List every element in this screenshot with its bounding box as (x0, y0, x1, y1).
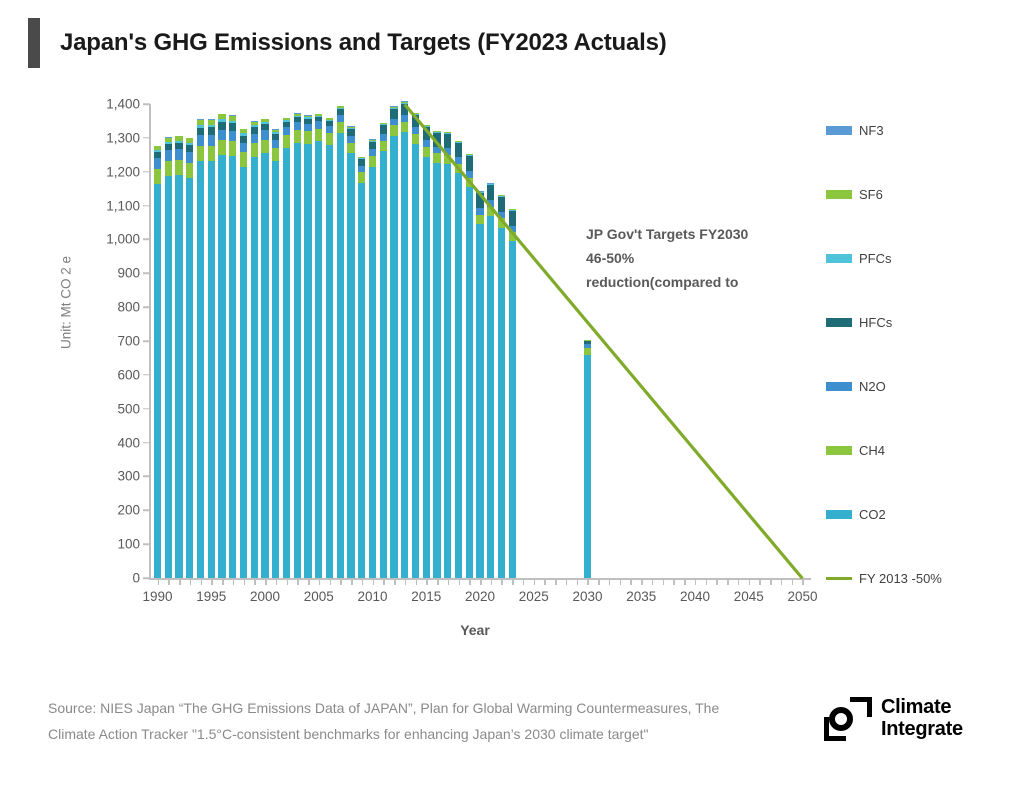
bar-segment-ch4 (261, 140, 268, 154)
x-axis-tick-mark (684, 578, 686, 585)
x-axis-tick-mark (577, 578, 579, 585)
x-axis-tick-mark (168, 578, 170, 585)
x-axis-tick-mark (394, 578, 396, 585)
x-axis-tick-mark (330, 578, 332, 585)
bar-segment-co2 (347, 153, 354, 578)
y-axis-tick-mark (143, 543, 150, 545)
logo-line-2: Integrate (881, 719, 963, 741)
annotation-line-2: 46-50% (586, 246, 816, 270)
legend-swatch-icon (826, 126, 852, 135)
bar-segment-ch4 (283, 135, 290, 148)
x-axis-tick-mark (781, 578, 783, 585)
legend-item-sf6[interactable]: SF6 (826, 186, 883, 202)
legend-swatch-icon (826, 446, 852, 455)
bar-segment-hfcs (466, 156, 473, 171)
legend-item-co2[interactable]: CO2 (826, 506, 886, 522)
y-axis-tick-mark (143, 205, 150, 207)
bar-segment-co2 (197, 161, 204, 578)
bar-segment-co2 (208, 161, 215, 578)
bar-segment-n2o (261, 130, 268, 139)
bar-segment-hfcs (197, 128, 204, 135)
y-axis-tick-label: 900 (117, 266, 140, 281)
bar-segment-ch4 (509, 232, 516, 241)
x-axis-tick-label: 2005 (304, 589, 334, 604)
bar-segment-co2 (304, 144, 311, 578)
bar-segment-co2 (229, 156, 236, 578)
bar-segment-n2o (315, 121, 322, 129)
x-axis-tick-mark (222, 578, 224, 585)
x-axis-title: Year (0, 622, 950, 638)
x-axis-tick-label: 2040 (680, 589, 710, 604)
bar-segment-co2 (358, 183, 365, 578)
legend-label: SF6 (859, 187, 883, 202)
bar-1993 (186, 138, 193, 578)
x-axis-tick-mark (179, 578, 181, 585)
y-axis-tick-label: 300 (117, 469, 140, 484)
x-axis-tick-mark (211, 578, 213, 585)
bar-segment-ch4 (455, 164, 462, 173)
x-axis-tick-label: 2050 (787, 589, 817, 604)
x-axis-tick-mark (523, 578, 525, 585)
bar-segment-co2 (455, 173, 462, 578)
bar-segment-co2 (476, 224, 483, 578)
x-axis-tick-mark (695, 578, 697, 585)
bar-2014 (412, 113, 419, 578)
logo-mark-icon (824, 697, 872, 741)
legend-label: NF3 (859, 123, 884, 138)
bar-segment-co2 (584, 355, 591, 578)
bar-2000 (261, 119, 268, 578)
legend-item-nf3[interactable]: NF3 (826, 122, 884, 138)
target-annotation: JP Gov't Targets FY2030 46-50% reduction… (586, 222, 816, 294)
bar-segment-n2o (380, 134, 387, 141)
bar-segment-ch4 (401, 122, 408, 132)
bar-segment-co2 (186, 178, 193, 578)
bar-segment-n2o (369, 149, 376, 156)
bar-segment-co2 (444, 164, 451, 578)
legend-label: CH4 (859, 443, 885, 458)
bar-segment-hfcs (240, 136, 247, 143)
bar-segment-co2 (390, 136, 397, 579)
y-axis-tick-mark (143, 137, 150, 139)
bar-2021 (487, 183, 494, 578)
bar-segment-n2o (390, 119, 397, 126)
x-axis-tick-mark (491, 578, 493, 585)
bar-1992 (175, 136, 182, 579)
x-axis-tick-mark (598, 578, 600, 585)
y-axis-title: Unit: Mt CO 2 e (59, 223, 74, 383)
x-axis-tick-mark (706, 578, 708, 585)
bar-segment-co2 (272, 161, 279, 578)
bar-segment-co2 (165, 176, 172, 578)
x-axis-tick-label: 2020 (465, 589, 495, 604)
x-axis-tick-mark (566, 578, 568, 585)
x-axis-tick-mark (716, 578, 718, 585)
bar-segment-co2 (283, 148, 290, 578)
bar-segment-n2o (218, 130, 225, 140)
bar-2016 (433, 131, 440, 578)
legend-item-n2o[interactable]: N2O (826, 378, 886, 394)
y-axis-tick-label: 700 (117, 334, 140, 349)
bar-segment-hfcs (455, 143, 462, 158)
bar-segment-n2o (251, 134, 258, 143)
bar-segment-ch4 (423, 147, 430, 157)
x-axis-tick-mark (480, 578, 482, 585)
bar-1994 (197, 119, 204, 578)
bar-segment-hfcs (208, 127, 215, 134)
legend-label: PFCs (859, 251, 892, 266)
bar-segment-n2o (175, 149, 182, 160)
bar-2017 (444, 132, 451, 578)
y-axis-tick-label: 500 (117, 401, 140, 416)
bar-1999 (251, 121, 258, 578)
bar-2009 (358, 156, 365, 578)
x-axis-tick-mark (448, 578, 450, 585)
x-axis-tick-mark (308, 578, 310, 585)
bar-segment-ch4 (390, 125, 397, 135)
x-axis-tick-mark (373, 578, 375, 585)
bar-2020 (476, 191, 483, 578)
bar-segment-co2 (509, 241, 516, 578)
bar-segment-ch4 (498, 218, 505, 227)
y-axis-tick-labels: 01002003004005006007008009001,0001,1001,… (60, 0, 140, 797)
legend-item-pfcs[interactable]: PFCs (826, 250, 892, 266)
legend-label: N2O (859, 379, 886, 394)
legend-swatch-icon (826, 510, 852, 519)
bar-2001 (272, 129, 279, 578)
bar-segment-hfcs (358, 159, 365, 166)
x-axis-tick-mark (501, 578, 503, 585)
y-axis-tick-mark (143, 273, 150, 275)
y-axis-tick-mark (143, 306, 150, 308)
bar-segment-n2o (412, 127, 419, 134)
y-axis-tick-label: 200 (117, 503, 140, 518)
y-axis-tick-mark (143, 408, 150, 410)
bar-segment-n2o (444, 148, 451, 155)
x-axis-tick-mark (416, 578, 418, 585)
bar-1991 (165, 137, 172, 578)
x-axis-tick-mark (340, 578, 342, 585)
bar-2030 (584, 340, 591, 578)
legend-item-ch4[interactable]: CH4 (826, 442, 885, 458)
logo-text: Climate Integrate (881, 697, 963, 740)
x-axis-tick-mark (459, 578, 461, 585)
bar-segment-co2 (315, 141, 322, 578)
y-axis-tick-label: 100 (117, 537, 140, 552)
bar-segment-co2 (498, 228, 505, 578)
bar-segment-ch4 (272, 148, 279, 161)
bracket-circle-icon (824, 697, 872, 741)
x-axis-tick-mark (437, 578, 439, 585)
bar-segment-hfcs (390, 109, 397, 119)
bar-2002 (283, 118, 290, 578)
legend-swatch-icon (826, 318, 852, 327)
bar-segment-n2o (423, 140, 430, 147)
bar-segment-co2 (380, 151, 387, 578)
legend-label: CO2 (859, 507, 886, 522)
bar-segment-ch4 (433, 153, 440, 162)
bar-segment-hfcs (498, 197, 505, 212)
bar-segment-n2o (186, 152, 193, 163)
bar-segment-co2 (326, 145, 333, 578)
x-axis-tick-mark (426, 578, 428, 585)
bar-segment-ch4 (294, 130, 301, 143)
x-axis-tick-mark (534, 578, 536, 585)
bar-2005 (315, 113, 322, 578)
bar-segment-ch4 (251, 143, 258, 157)
bar-segment-n2o (154, 158, 161, 169)
bar-segment-n2o (326, 126, 333, 133)
x-axis-tick-mark (792, 578, 794, 585)
bar-segment-hfcs (433, 133, 440, 147)
x-axis-tick-mark (652, 578, 654, 585)
y-axis-tick-mark (143, 374, 150, 376)
x-axis-tick-label: 2000 (250, 589, 280, 604)
y-axis-tick-mark (143, 171, 150, 173)
legend-swatch-icon (826, 190, 852, 199)
bar-segment-hfcs (476, 193, 483, 208)
x-axis-tick-mark (630, 578, 632, 585)
x-axis-tick-label: 2025 (519, 589, 549, 604)
x-axis-tick-mark (673, 578, 675, 585)
bar-segment-co2 (401, 132, 408, 578)
logo-line-1: Climate (881, 697, 963, 719)
bar-segment-ch4 (229, 141, 236, 156)
x-axis-tick-mark (265, 578, 267, 585)
x-axis-tick-mark (738, 578, 740, 585)
bar-segment-ch4 (326, 133, 333, 145)
bar-2015 (423, 125, 430, 578)
x-axis-tick-label: 1995 (196, 589, 226, 604)
bar-1998 (240, 129, 247, 578)
x-axis-tick-label: 2045 (734, 589, 764, 604)
bar-segment-n2o (466, 171, 473, 178)
bar-segment-co2 (240, 167, 247, 578)
bar-segment-hfcs (229, 123, 236, 130)
bar-segment-hfcs (423, 127, 430, 140)
bar-segment-n2o (283, 127, 290, 135)
bar-segment-n2o (304, 124, 311, 132)
x-axis-tick-mark (587, 578, 589, 585)
bar-segment-hfcs (380, 125, 387, 134)
x-axis-tick-mark (383, 578, 385, 585)
bar-2018 (455, 141, 462, 578)
bar-segment-n2o (358, 166, 365, 173)
x-axis-tick-mark (190, 578, 192, 585)
x-axis-tick-label: 1990 (142, 589, 172, 604)
y-axis-tick-label: 1,300 (106, 130, 140, 145)
bar-segment-ch4 (208, 146, 215, 161)
bar-1996 (218, 113, 225, 578)
bar-segment-ch4 (358, 172, 365, 182)
bar-2010 (369, 139, 376, 578)
chart-area: 01002003004005006007008009001,0001,1001,… (0, 0, 1024, 797)
x-axis-tick-label: 2030 (572, 589, 602, 604)
x-axis-tick-label: 2035 (626, 589, 656, 604)
source-line-2: Climate Action Tracker "1.5°C-consistent… (48, 722, 808, 748)
x-axis-tick-mark (759, 578, 761, 585)
annotation-line-3: reduction(compared to (586, 270, 816, 294)
x-axis-tick-mark (244, 578, 246, 585)
y-axis-tick-mark (143, 476, 150, 478)
x-axis-tick-mark (287, 578, 289, 585)
bar-segment-hfcs (444, 134, 451, 148)
bar-segment-co2 (261, 153, 268, 578)
x-axis-tick-mark (276, 578, 278, 585)
y-axis-tick-label: 1,400 (106, 97, 140, 112)
x-axis-tick-mark (544, 578, 546, 585)
bar-segment-ch4 (347, 143, 354, 154)
legend-item-fy-2013-50[interactable]: FY 2013 -50% (826, 570, 942, 586)
x-axis-tick-mark (362, 578, 364, 585)
bar-segment-co2 (423, 157, 430, 578)
x-axis-tick-mark (233, 578, 235, 585)
y-axis-tick-mark (143, 577, 150, 579)
bar-segment-n2o (229, 131, 236, 141)
bar-segment-n2o (165, 150, 172, 161)
bar-segment-ch4 (197, 146, 204, 161)
x-axis-tick-mark (663, 578, 665, 585)
bar-segment-ch4 (154, 169, 161, 185)
bar-2019 (466, 154, 473, 578)
x-axis-tick-mark (620, 578, 622, 585)
x-axis-tick-mark (297, 578, 299, 585)
bar-segment-ch4 (240, 152, 247, 166)
bar-segment-hfcs (369, 142, 376, 150)
x-axis-tick-mark (770, 578, 772, 585)
bar-2007 (337, 106, 344, 578)
legend-label: FY 2013 -50% (859, 571, 942, 586)
bar-segment-hfcs (412, 115, 419, 127)
legend-swatch-icon (826, 254, 852, 263)
bar-segment-n2o (240, 143, 247, 153)
x-axis-tick-mark (641, 578, 643, 585)
bar-segment-co2 (154, 184, 161, 578)
bar-segment-co2 (433, 163, 440, 578)
bar-segment-ch4 (466, 178, 473, 187)
annotation-line-1: JP Gov't Targets FY2030 (586, 222, 816, 246)
bar-2012 (390, 106, 397, 578)
bar-segment-n2o (433, 147, 440, 154)
bar-segment-n2o (272, 140, 279, 148)
bar-2004 (304, 115, 311, 578)
bar-segment-ch4 (175, 160, 182, 175)
x-axis-tick-mark (405, 578, 407, 585)
bar-segment-ch4 (476, 215, 483, 224)
bar-1995 (208, 119, 215, 578)
bar-segment-co2 (175, 175, 182, 578)
climate-integrate-logo: Climate Integrate (824, 697, 963, 741)
x-axis-tick-mark (201, 578, 203, 585)
bar-segment-co2 (369, 167, 376, 578)
bar-segment-n2o (401, 115, 408, 122)
y-axis-tick-label: 1,000 (106, 232, 140, 247)
bar-segment-n2o (197, 135, 204, 146)
bar-segment-ch4 (412, 134, 419, 144)
bar-segment-ch4 (315, 129, 322, 141)
y-axis-tick-mark (143, 442, 150, 444)
x-axis-tick-mark (609, 578, 611, 585)
bar-segment-hfcs (401, 104, 408, 115)
y-axis-tick-mark (143, 510, 150, 512)
bar-segment-ch4 (337, 122, 344, 133)
bar-segment-n2o (294, 122, 301, 130)
bar-segment-ch4 (186, 163, 193, 178)
y-axis-tick-mark (143, 103, 150, 105)
y-axis-tick-label: 1,100 (106, 198, 140, 213)
source-note: Source: NIES Japan “The GHG Emissions Da… (48, 696, 808, 748)
bar-segment-hfcs (487, 185, 494, 200)
legend-swatch-icon (826, 577, 852, 580)
bar-segment-co2 (412, 144, 419, 578)
bar-2023 (509, 209, 516, 578)
bar-segment-co2 (294, 143, 301, 578)
x-axis-tick-mark (727, 578, 729, 585)
bar-1997 (229, 115, 236, 578)
bar-segment-ch4 (304, 131, 311, 143)
x-axis-tick-mark (319, 578, 321, 585)
y-axis-tick-label: 400 (117, 435, 140, 450)
bar-segment-n2o (337, 115, 344, 122)
bar-segment-co2 (251, 157, 258, 578)
bar-2008 (347, 126, 354, 578)
bar-2022 (498, 195, 505, 578)
bar-segment-n2o (455, 157, 462, 164)
y-axis-tick-label: 0 (132, 571, 140, 586)
bar-segment-hfcs (509, 211, 516, 226)
bar-segment-co2 (466, 187, 473, 578)
legend-item-hfcs[interactable]: HFCs (826, 314, 892, 330)
y-axis-tick-label: 800 (117, 300, 140, 315)
x-axis-tick-mark (555, 578, 557, 585)
legend-label: HFCs (859, 315, 892, 330)
x-axis-tick-label: 2015 (411, 589, 441, 604)
bar-segment-ch4 (369, 156, 376, 166)
bar-2006 (326, 118, 333, 578)
x-axis-tick-mark (158, 578, 160, 585)
bar-segment-ch4 (444, 155, 451, 164)
bar-segment-n2o (347, 136, 354, 143)
bar-segment-ch4 (165, 161, 172, 177)
plot-bars (150, 104, 810, 578)
x-axis-tick-mark (749, 578, 751, 585)
y-axis-tick-mark (143, 239, 150, 241)
bar-1990 (154, 146, 161, 578)
y-axis-tick-label: 600 (117, 367, 140, 382)
x-axis-tick-mark (469, 578, 471, 585)
y-axis-tick-label: 1,200 (106, 164, 140, 179)
x-axis-tick-label: 2010 (357, 589, 387, 604)
bar-segment-ch4 (380, 141, 387, 151)
legend-swatch-icon (826, 382, 852, 391)
bar-segment-n2o (208, 135, 215, 146)
x-axis-tick-mark (254, 578, 256, 585)
bar-segment-hfcs (218, 122, 225, 130)
x-axis-tick-mark (512, 578, 514, 585)
bar-2011 (380, 123, 387, 578)
bar-segment-co2 (487, 216, 494, 578)
bar-segment-co2 (218, 155, 225, 578)
y-axis-tick-mark (143, 340, 150, 342)
x-axis-tick-mark (351, 578, 353, 585)
bar-2003 (294, 113, 301, 578)
x-axis-tick-mark (802, 578, 804, 585)
bar-segment-ch4 (218, 140, 225, 155)
bar-2013 (401, 101, 408, 578)
bar-segment-co2 (337, 133, 344, 578)
source-line-1: Source: NIES Japan “The GHG Emissions Da… (48, 696, 808, 722)
bar-segment-ch4 (487, 207, 494, 216)
